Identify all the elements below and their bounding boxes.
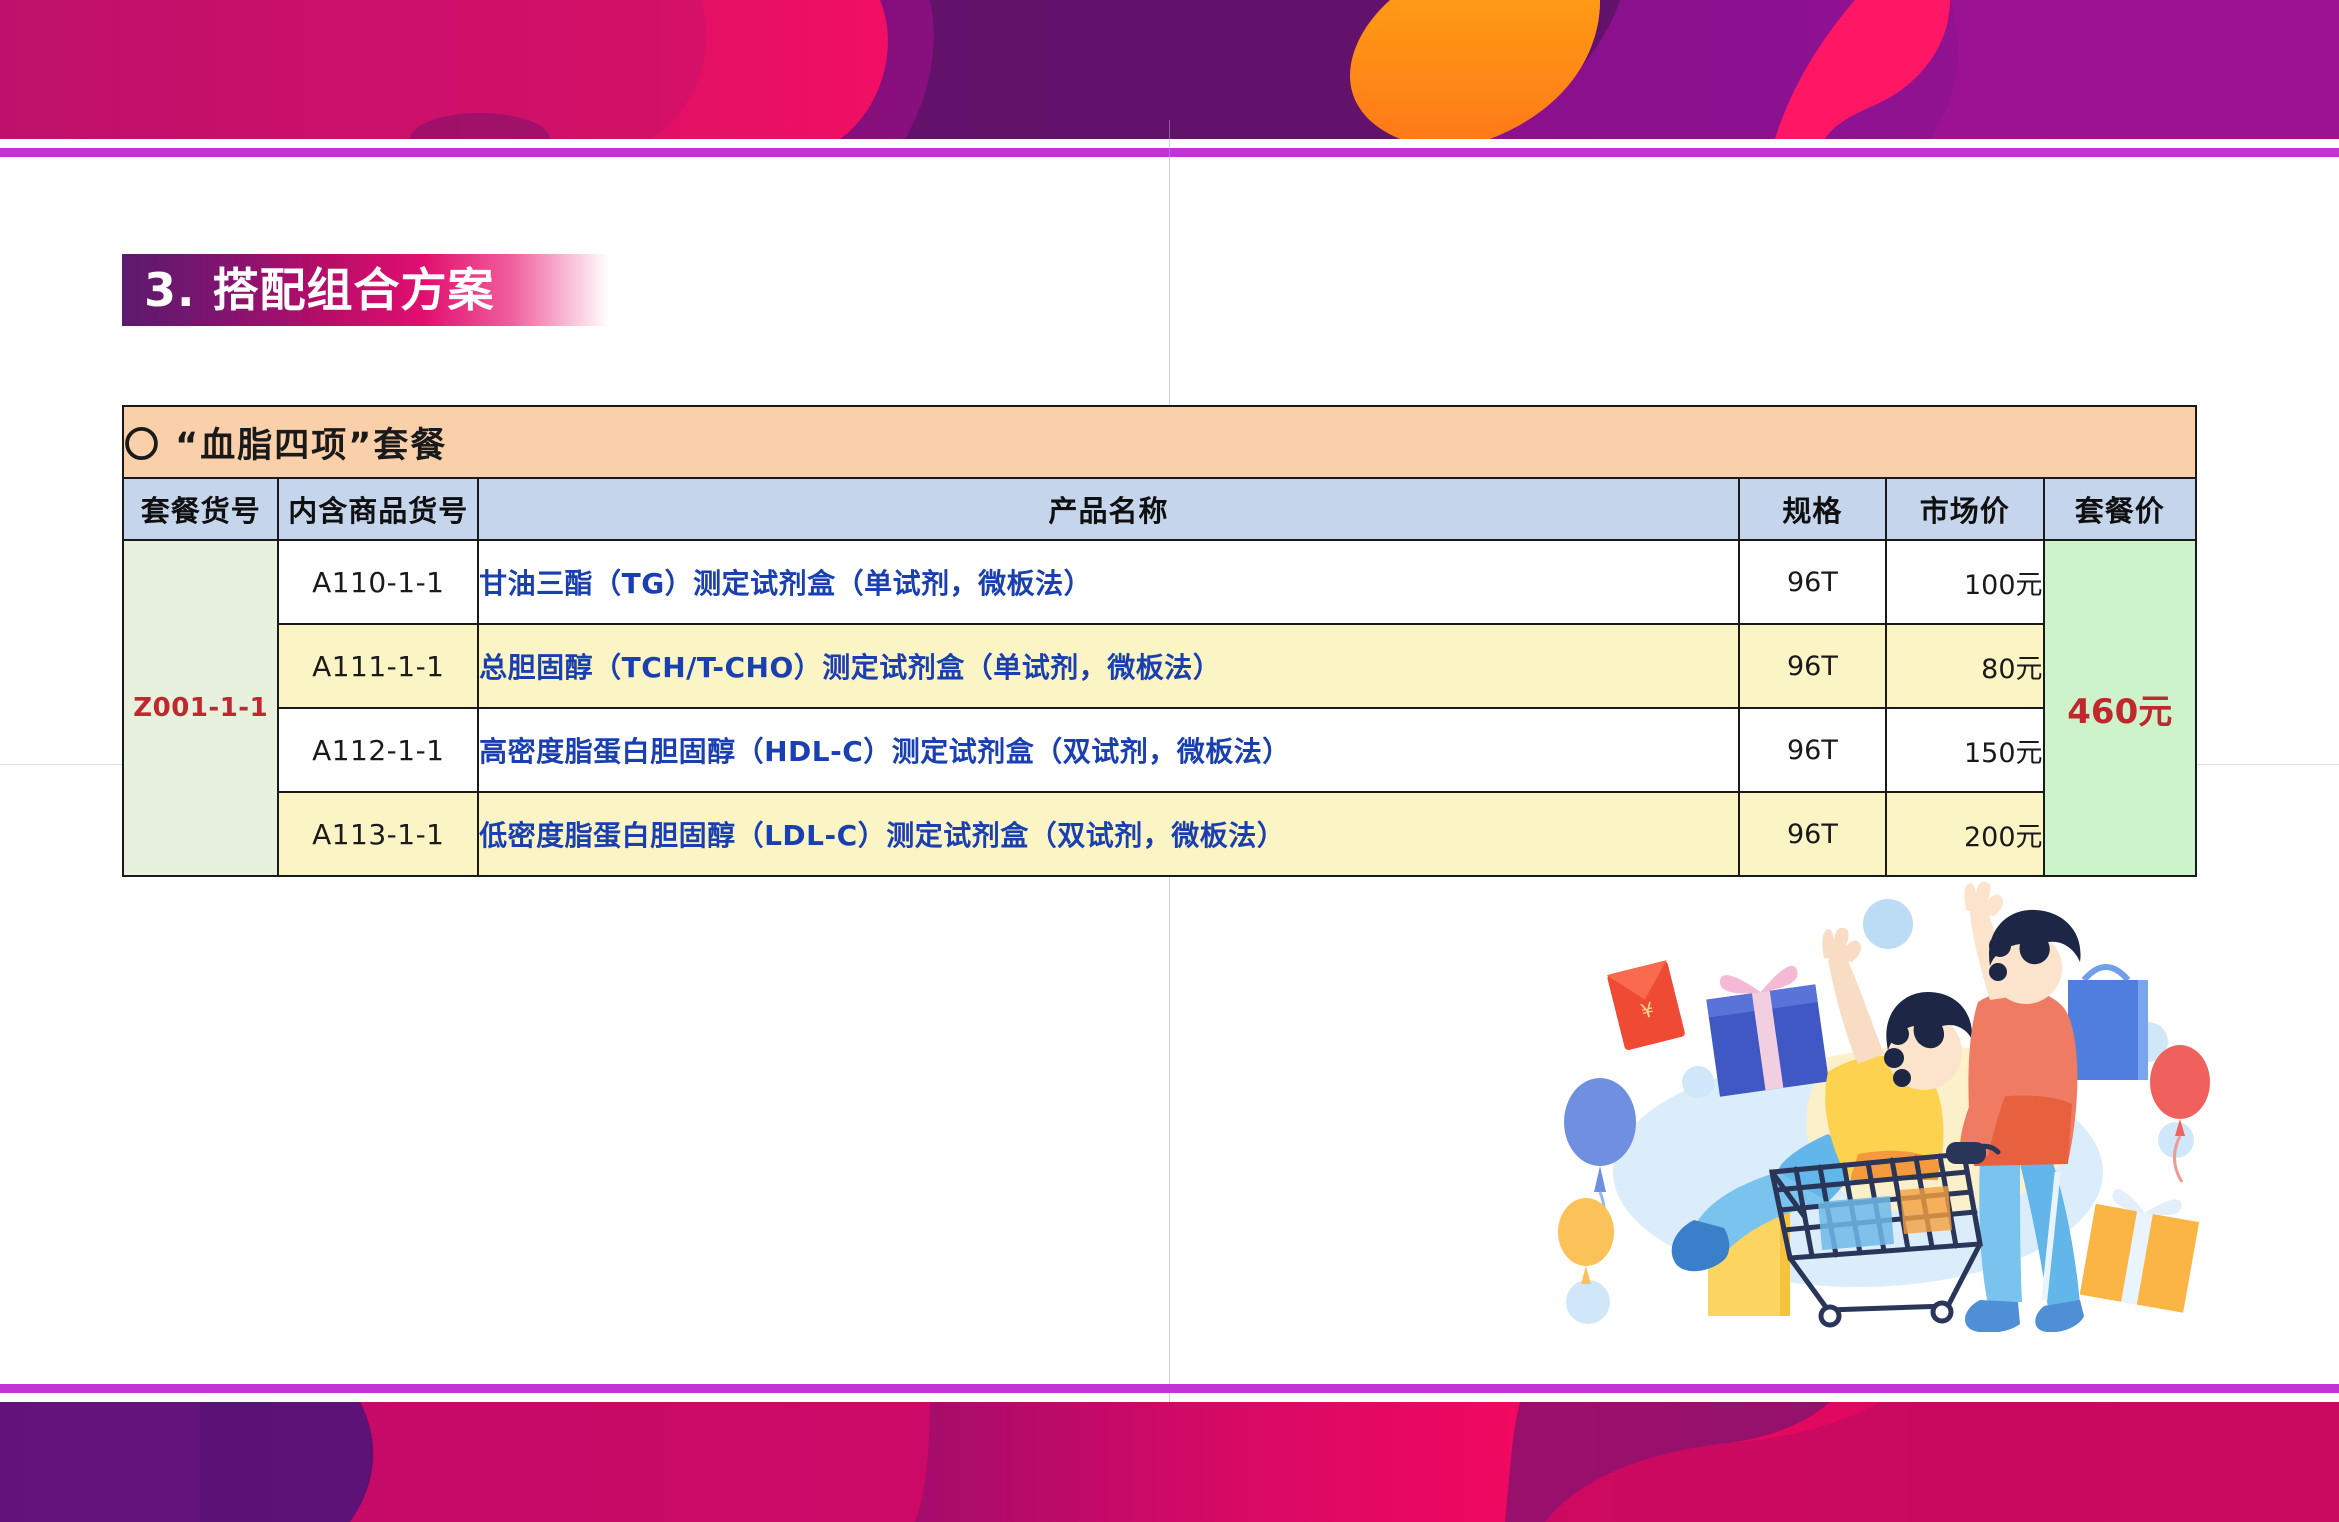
table-row: Z001-1-1 A110-1-1 甘油三酯（TG）测定试剂盒（单试剂，微板法）… bbox=[123, 540, 2196, 624]
product-name-cell: 甘油三酯（TG）测定试剂盒（单试剂，微板法） bbox=[478, 540, 1739, 624]
column-header-item-code: 内含商品货号 bbox=[278, 478, 478, 540]
column-header-spec: 规格 bbox=[1739, 478, 1886, 540]
market-price-cell: 100元 bbox=[1886, 540, 2044, 624]
item-code-cell: A111-1-1 bbox=[278, 624, 478, 708]
spec-cell: 96T bbox=[1739, 792, 1886, 876]
top-decorative-banner bbox=[0, 0, 2339, 139]
column-header-market-price: 市场价 bbox=[1886, 478, 2044, 540]
column-header-product-name: 产品名称 bbox=[478, 478, 1739, 540]
spec-cell: 96T bbox=[1739, 708, 1886, 792]
table-row: A113-1-1 低密度脂蛋白胆固醇（LDL-C）测定试剂盒（双试剂，微板法） … bbox=[123, 792, 2196, 876]
package-table: 〇 “血脂四项”套餐 套餐货号 内含商品货号 产品名称 规格 市场价 套餐价 Z… bbox=[122, 405, 2197, 877]
bottom-decorative-banner bbox=[0, 1402, 2339, 1522]
shopping-couple-illustration: ¥ bbox=[1528, 872, 2218, 1332]
spec-cell: 96T bbox=[1739, 624, 1886, 708]
package-table-wrapper: 〇 “血脂四项”套餐 套餐货号 内含商品货号 产品名称 规格 市场价 套餐价 Z… bbox=[122, 405, 2197, 877]
package-code-cell: Z001-1-1 bbox=[123, 540, 278, 876]
table-row: A112-1-1 高密度脂蛋白胆固醇（HDL-C）测定试剂盒（双试剂，微板法） … bbox=[123, 708, 2196, 792]
item-code-cell: A112-1-1 bbox=[278, 708, 478, 792]
item-code-cell: A113-1-1 bbox=[278, 792, 478, 876]
spec-cell: 96T bbox=[1739, 540, 1886, 624]
market-price-cell: 150元 bbox=[1886, 708, 2044, 792]
product-name-cell: 低密度脂蛋白胆固醇（LDL-C）测定试剂盒（双试剂，微板法） bbox=[478, 792, 1739, 876]
slide-canvas: 3. 搭配组合方案 〇 “血脂四项”套餐 套餐货号 内含商品货号 产品名称 规格… bbox=[0, 0, 2339, 1522]
column-header-bundle-price: 套餐价 bbox=[2044, 478, 2196, 540]
column-header-pkg-code: 套餐货号 bbox=[123, 478, 278, 540]
bottom-divider-rule bbox=[0, 1384, 2339, 1393]
section-title-band: 3. 搭配组合方案 bbox=[122, 254, 609, 326]
table-header-row: 套餐货号 内含商品货号 产品名称 规格 市场价 套餐价 bbox=[123, 478, 2196, 540]
product-name-cell: 高密度脂蛋白胆固醇（HDL-C）测定试剂盒（双试剂，微板法） bbox=[478, 708, 1739, 792]
market-price-cell: 80元 bbox=[1886, 624, 2044, 708]
bundle-price-cell: 460元 bbox=[2044, 540, 2196, 876]
product-name-cell: 总胆固醇（TCH/T-CHO）测定试剂盒（单试剂，微板法） bbox=[478, 624, 1739, 708]
table-caption-row: 〇 “血脂四项”套餐 bbox=[123, 406, 2196, 478]
table-row: A111-1-1 总胆固醇（TCH/T-CHO）测定试剂盒（单试剂，微板法） 9… bbox=[123, 624, 2196, 708]
table-caption: 〇 “血脂四项”套餐 bbox=[123, 406, 2196, 478]
section-title-text: 3. 搭配组合方案 bbox=[122, 267, 495, 313]
item-code-cell: A110-1-1 bbox=[278, 540, 478, 624]
market-price-cell: 200元 bbox=[1886, 792, 2044, 876]
